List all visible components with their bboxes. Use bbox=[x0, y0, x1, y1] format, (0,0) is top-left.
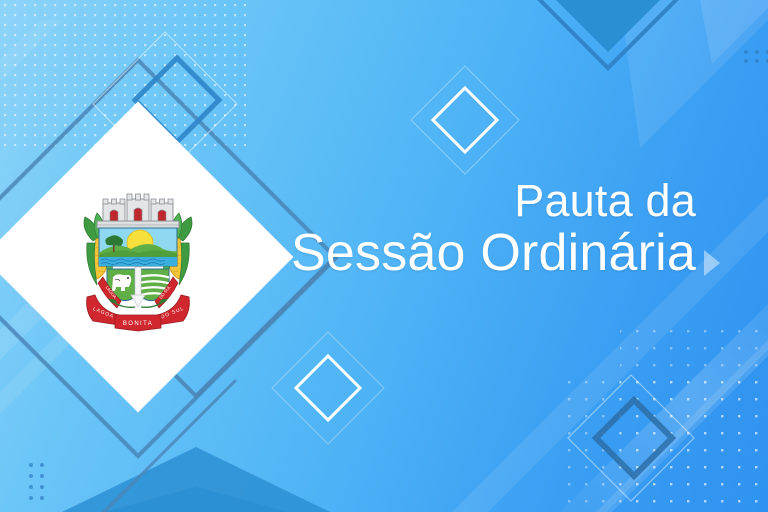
title-line-primary: Pauta da bbox=[276, 178, 696, 227]
mural-crown-icon bbox=[97, 194, 179, 228]
dot-grid-bottom-right bbox=[560, 330, 768, 512]
diamond-outline-white-bottom-center bbox=[272, 332, 384, 444]
triangle-bottom-left bbox=[104, 487, 288, 512]
triangle-bottom-left-large bbox=[62, 447, 330, 512]
dot-cluster-bottom-left bbox=[29, 463, 44, 500]
chevron-bottom-left-inner bbox=[96, 380, 236, 512]
banner-title: Pauta da Sessão Ordinária bbox=[276, 178, 696, 279]
chevron-top-right bbox=[500, 0, 760, 68]
dot-cluster-top-right bbox=[744, 50, 768, 63]
landscape-scene bbox=[99, 228, 177, 266]
ribbon-center-text: BONITA bbox=[123, 321, 153, 327]
coat-of-arms: LAGOA DO SUL LAGOA DO SUL BONITA bbox=[63, 181, 213, 333]
diamond-outline-bottom-right bbox=[568, 375, 694, 501]
title-line-secondary: Sessão Ordinária bbox=[276, 227, 696, 279]
triangle-top-right bbox=[556, 0, 660, 52]
water-icon bbox=[99, 257, 177, 266]
banner: LAGOA DO SUL LAGOA DO SUL BONITA bbox=[0, 0, 768, 512]
triangle-right-icon bbox=[704, 250, 720, 276]
diamond-outline-white-top-center bbox=[411, 66, 519, 174]
